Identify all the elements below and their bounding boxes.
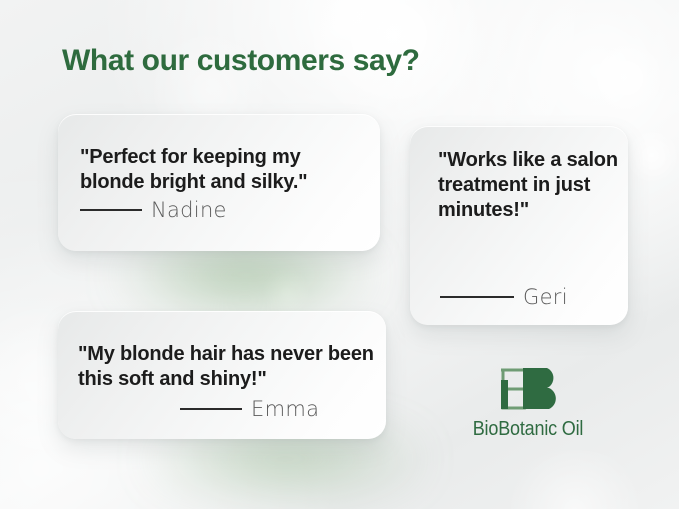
attribution-dash-icon [80, 209, 142, 211]
testimonial-graphic: What our customers say? "Perfect for kee… [0, 0, 679, 509]
testimonial-card: "Works like a salon treatment in just mi… [410, 126, 628, 325]
testimonial-quote: "Works like a salon treatment in just mi… [438, 148, 618, 223]
testimonial-author: Nadine [151, 198, 227, 222]
testimonial-attribution: Nadine [80, 198, 227, 222]
brand-name: BioBotanic Oil [456, 418, 600, 441]
testimonial-attribution: Geri [440, 285, 568, 309]
attribution-dash-icon [180, 408, 242, 410]
testimonial-author: Geri [523, 285, 568, 309]
testimonial-quote: "My blonde hair has never been this soft… [78, 342, 378, 392]
testimonial-card: "My blonde hair has never been this soft… [58, 311, 386, 439]
bokeh-circle [262, 268, 310, 316]
testimonial-card: "Perfect for keeping my blonde bright an… [58, 114, 380, 251]
bokeh-circle [500, 450, 650, 509]
bokeh-circle [584, 36, 668, 120]
attribution-dash-icon [440, 296, 514, 298]
bokeh-circle [624, 128, 679, 184]
testimonial-author: Emma [251, 397, 319, 421]
testimonial-quote: "Perfect for keeping my blonde bright an… [80, 145, 370, 195]
bb-monogram-icon [489, 366, 567, 412]
page-title: What our customers say? [62, 44, 420, 78]
brand-logo: BioBotanic Oil [448, 366, 608, 441]
testimonial-attribution: Emma [180, 397, 319, 421]
